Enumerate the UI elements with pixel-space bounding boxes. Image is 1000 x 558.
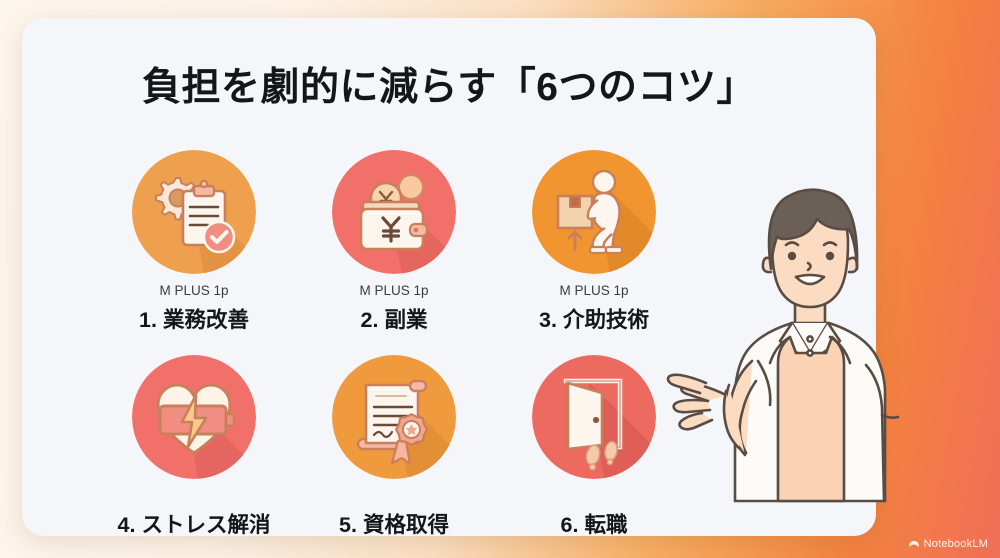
caregiver-illustration xyxy=(640,185,980,530)
open-door-footprints-icon xyxy=(532,355,656,479)
page-title: 負担を劇的に減らす「6つのコツ」 xyxy=(22,56,876,112)
tip-item-1[interactable]: M PLUS 1p 1. 業務改善 xyxy=(79,150,309,334)
icon-circle-6 xyxy=(532,355,656,479)
slide-canvas: 負担を劇的に減らす「6つのコツ」 xyxy=(0,0,1000,558)
smiling-caregiver-woman-icon xyxy=(640,185,980,530)
notebooklm-logo-icon xyxy=(908,538,920,550)
heart-battery-bolt-icon xyxy=(132,355,256,479)
tip-label-1: 1. 業務改善 xyxy=(79,303,309,334)
font-note-1: M PLUS 1p xyxy=(79,284,309,300)
tip-label-4: 4. ストレス解消 xyxy=(79,508,309,539)
font-note-2: M PLUS 1p xyxy=(279,284,509,300)
icon-circle-2 xyxy=(332,150,456,274)
tip-label-2: 2. 副業 xyxy=(279,303,509,334)
certificate-award-icon xyxy=(332,355,456,479)
icon-circle-5 xyxy=(332,355,456,479)
gear-clipboard-check-icon xyxy=(132,150,256,274)
wallet-yen-coin-icon xyxy=(332,150,456,274)
tip-label-5: 5. 資格取得 xyxy=(279,508,509,539)
notebooklm-watermark: NotebookLM xyxy=(908,538,988,550)
watermark-label: NotebookLM xyxy=(924,538,988,550)
tip-item-4[interactable]: 4. ストレス解消 xyxy=(79,355,309,539)
icon-circle-4 xyxy=(132,355,256,479)
person-lifting-box-icon xyxy=(532,150,656,274)
tip-item-5[interactable]: 5. 資格取得 xyxy=(279,355,509,539)
icon-circle-3 xyxy=(532,150,656,274)
icon-circle-1 xyxy=(132,150,256,274)
tip-item-2[interactable]: M PLUS 1p 2. 副業 xyxy=(279,150,509,334)
